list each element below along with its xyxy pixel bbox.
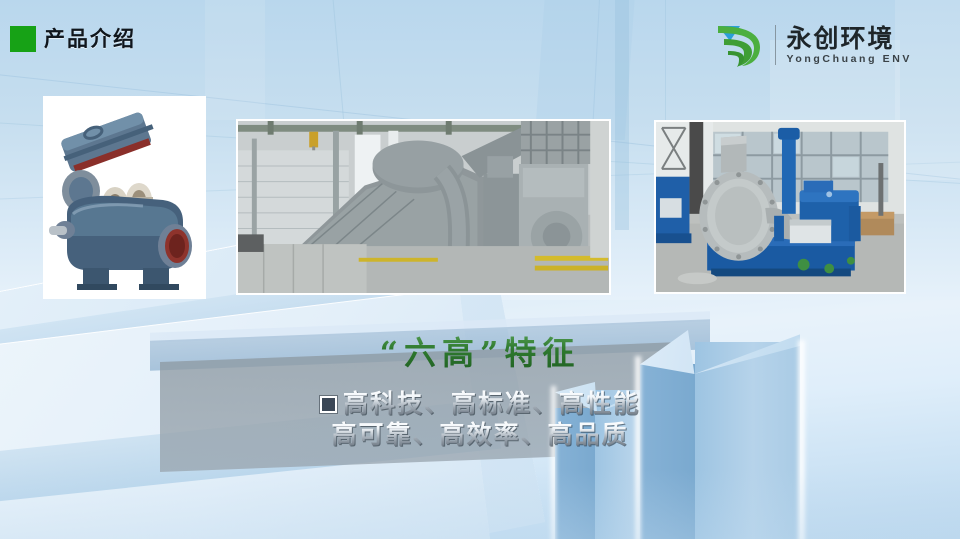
logo-chinese-name: 永创环境 (787, 25, 912, 52)
feature-bullet-line-1: 高科技、高标准、高性能 (343, 388, 640, 419)
feature-heading: “六高”特征 (0, 328, 960, 374)
logo-divider (775, 25, 776, 65)
photo-blue-pump-unit (654, 120, 906, 294)
yongchuang-leaf-icon (714, 21, 766, 69)
feature-bullet-row-2: 高可靠、高效率、高品质 (0, 419, 960, 450)
feature-bullet-line-2: 高可靠、高效率、高品质 (331, 419, 628, 450)
slide-canvas: 产品介绍 永创环境 YongChuang ENV (0, 0, 960, 539)
photo-grey-blower-installation (236, 119, 611, 295)
company-logo: 永创环境 YongChuang ENV (714, 20, 912, 70)
feature-bullet-row-1: 高科技、高标准、高性能 (0, 388, 960, 419)
photo-split-case-pump (43, 96, 206, 299)
title-marker-icon (10, 26, 36, 52)
square-bullet-icon (320, 396, 337, 413)
page-title: 产品介绍 (44, 24, 136, 54)
slide-header: 产品介绍 永创环境 YongChuang ENV (0, 0, 960, 72)
feature-bullets: 高科技、高标准、高性能 高可靠、高效率、高品质 (0, 388, 960, 450)
logo-wordmark: 永创环境 YongChuang ENV (787, 25, 912, 66)
bottom-fade (0, 469, 960, 539)
logo-english-name: YongChuang ENV (787, 53, 912, 66)
